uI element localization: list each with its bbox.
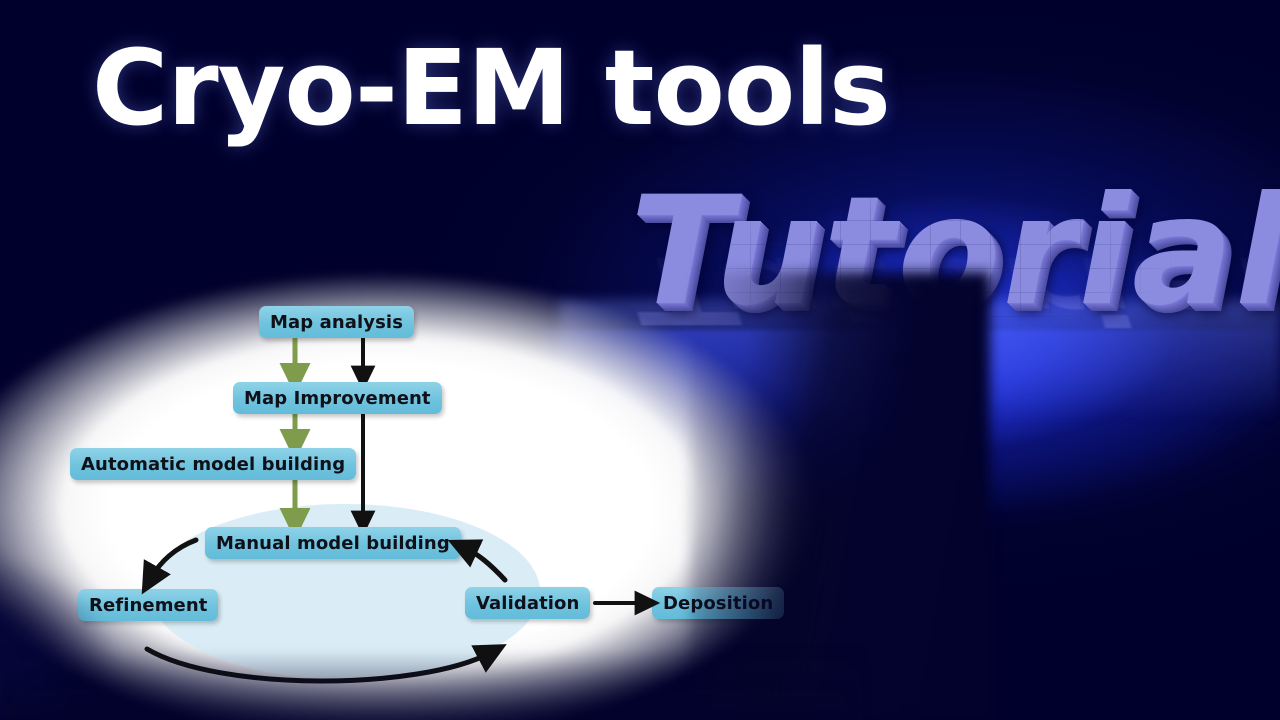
arrow-validation-to-manual (465, 548, 505, 580)
bottom-edge-fade (0, 650, 860, 720)
slide-canvas: Tutorial Tutorial Cryo-EM tools (0, 0, 1280, 720)
page-title: Cryo-EM tools (92, 32, 890, 144)
